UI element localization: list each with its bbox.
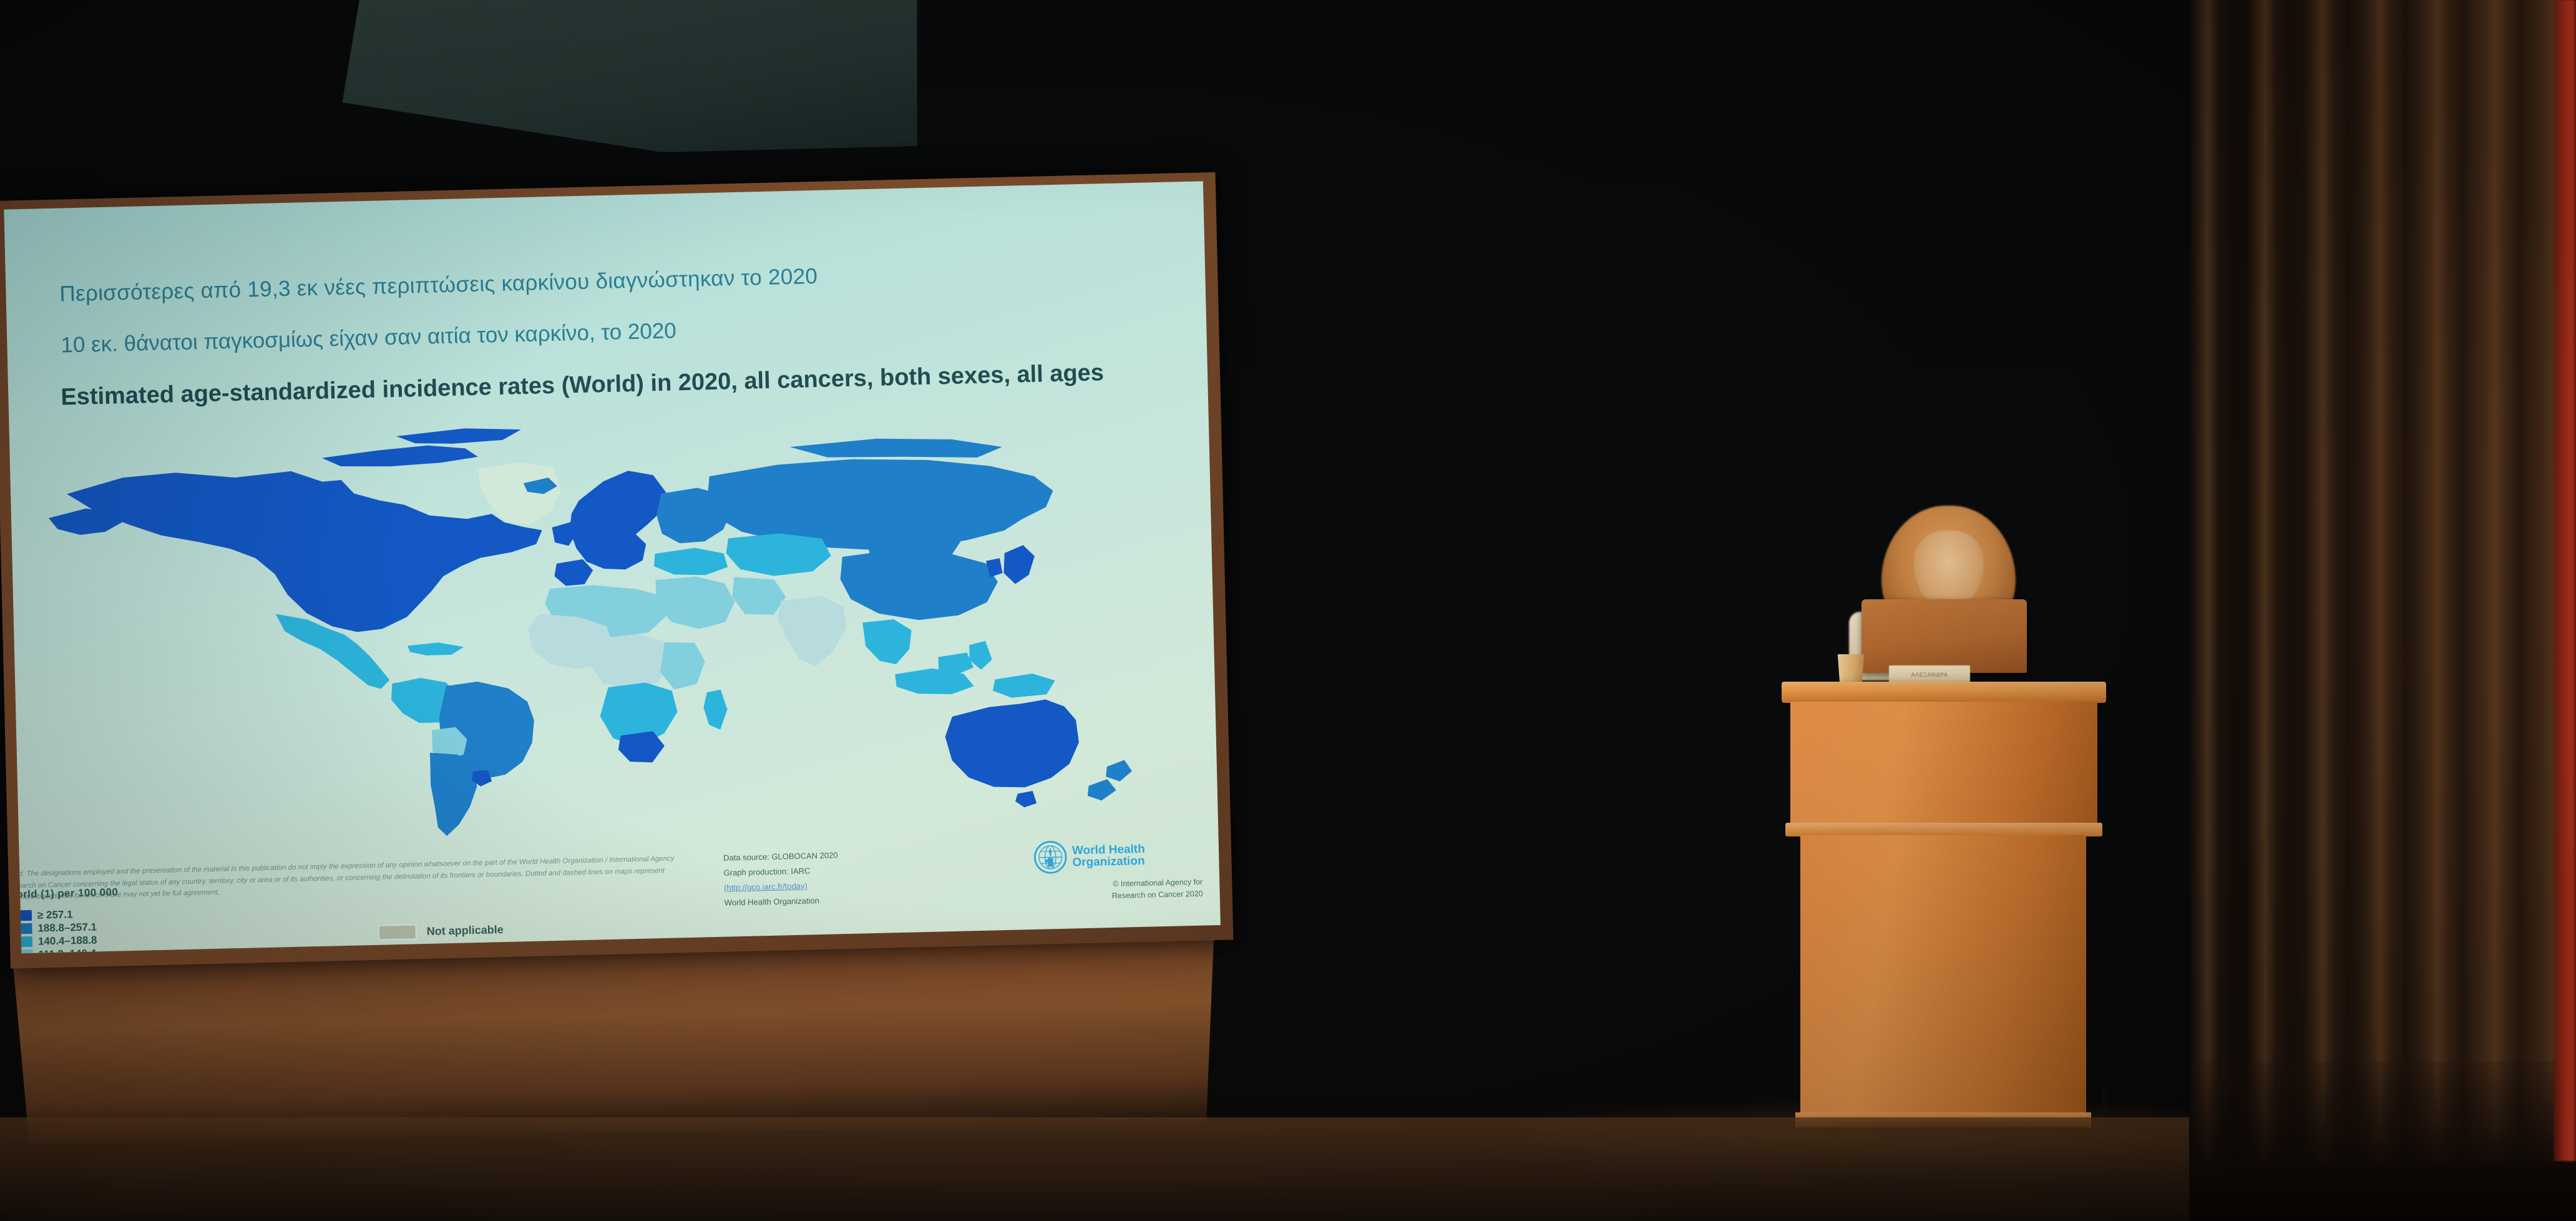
region-japan bbox=[1003, 545, 1035, 584]
legend-label: 140.4–188.8 bbox=[38, 934, 97, 948]
who-wordmark-line-2: Organization bbox=[1072, 855, 1145, 869]
region-papua-new-guinea bbox=[992, 673, 1055, 698]
legend-not-applicable-row: Not applicable bbox=[378, 922, 504, 941]
region-central-asia bbox=[726, 532, 832, 577]
podium-top-surface bbox=[1782, 682, 2106, 703]
stage-curtain bbox=[2189, 0, 2576, 1161]
region-canada-usa bbox=[66, 464, 544, 639]
legend-swatch-not-applicable bbox=[378, 924, 417, 940]
who-emblem-icon bbox=[1033, 840, 1068, 875]
legend-swatch bbox=[7, 910, 32, 921]
legend-label-no-data: No data bbox=[427, 950, 469, 953]
region-new-zealand-south bbox=[1087, 779, 1116, 801]
stage-curtain-red-edge bbox=[2554, 0, 2576, 1161]
region-caribbean bbox=[407, 642, 464, 655]
region-turkey-caucasus bbox=[653, 547, 728, 576]
region-arctic-islands bbox=[321, 444, 478, 468]
source-data: Data source: GLOBOCAN 2020 bbox=[723, 848, 838, 865]
legend-label: 111.9–140.4 bbox=[38, 947, 96, 953]
projection-screen-assembly: Περισσότερες από 19,3 εκ νέες περιπτώσει… bbox=[0, 172, 1247, 1149]
region-madagascar bbox=[703, 689, 728, 730]
region-southeast-asia bbox=[862, 619, 912, 665]
region-iran bbox=[732, 576, 786, 615]
region-siberia-north bbox=[789, 436, 1002, 462]
legend-label-not-applicable: Not applicable bbox=[427, 923, 504, 938]
who-logo-row: World Health Organization bbox=[1033, 837, 1203, 875]
who-copyright: © International Agency for Research on C… bbox=[1034, 876, 1203, 904]
screen-frame: Περισσότερες από 19,3 εκ νέες περιπτώσει… bbox=[0, 172, 1233, 969]
podium-upper-body bbox=[1790, 702, 2097, 826]
podium-lower-body bbox=[1800, 835, 2086, 1117]
region-arctic-islands-2 bbox=[396, 427, 522, 445]
map-source-block: Data source: GLOBOCAN 2020 Graph product… bbox=[723, 848, 839, 910]
region-new-zealand bbox=[1106, 760, 1133, 782]
region-australia bbox=[944, 699, 1080, 789]
region-china bbox=[840, 547, 999, 622]
who-logo-block: World Health Organization © Internationa… bbox=[1033, 837, 1203, 904]
region-middle-east bbox=[656, 576, 736, 630]
legend-swatch bbox=[7, 923, 32, 934]
world-incidence-map bbox=[27, 393, 1192, 856]
region-western-northern-europe bbox=[568, 470, 668, 571]
podium-and-speaker: ΑΛΕΞΑΝΔΡΑ bbox=[1782, 506, 2106, 1174]
legend-label: ≥ 257.1 bbox=[37, 908, 73, 921]
slide-greek-headline-2: 10 εκ. θάνατοι παγκοσμίως είχαν σαν αιτί… bbox=[61, 318, 676, 358]
region-india bbox=[777, 596, 847, 667]
legend-swatch bbox=[7, 949, 32, 953]
legend-not-applicable-group: Not applicable bbox=[378, 922, 504, 943]
legend-label: 188.8–257.1 bbox=[37, 921, 97, 934]
legend-swatch bbox=[7, 936, 32, 948]
who-wordmark: World Health Organization bbox=[1072, 843, 1146, 868]
region-tasmania bbox=[1015, 791, 1037, 808]
region-east-africa bbox=[660, 641, 706, 690]
source-organisation: World Health Organization bbox=[724, 893, 839, 911]
region-central-africa bbox=[588, 634, 671, 690]
slide-greek-headline-1: Περισσότερες από 19,3 εκ νέες περιπτώσει… bbox=[59, 264, 817, 307]
stage-curtain-base-shadow bbox=[2189, 1061, 2576, 1221]
slide-surface: Περισσότερες από 19,3 εκ νέες περιπτώσει… bbox=[4, 181, 1221, 953]
auditorium-scene: Περισσότερες από 19,3 εκ νέες περιπτώσει… bbox=[0, 0, 2576, 1221]
region-iberia bbox=[554, 559, 593, 586]
presenter-laptop[interactable] bbox=[1861, 599, 2027, 673]
podium-mid-band bbox=[1785, 823, 2102, 836]
